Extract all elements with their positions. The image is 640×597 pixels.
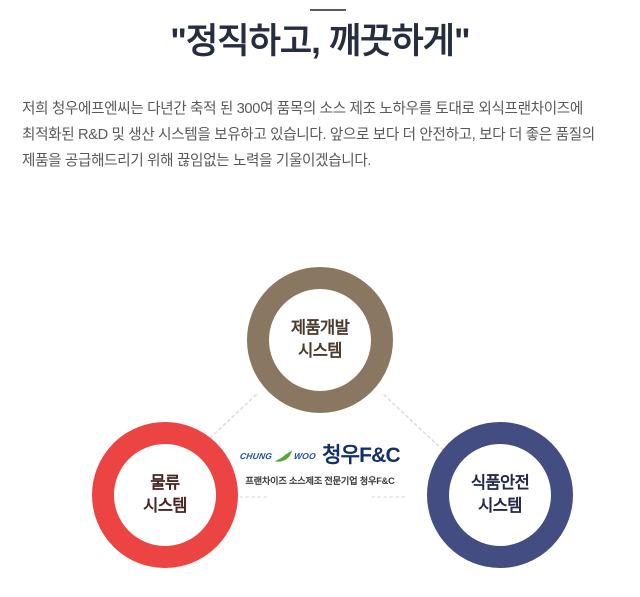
- circle-product-development-label: 제품개발 시스템: [291, 317, 349, 363]
- intro-line-1: 저희 청우에프엔씨는 다년간 축적 된 300여 품목의 소스 제조 노하우를 …: [22, 96, 622, 122]
- intro-paragraph: 저희 청우에프엔씨는 다년간 축적 된 300여 품목의 소스 제조 노하우를 …: [22, 96, 622, 174]
- logo-wordmark: CHUNG WOO: [240, 449, 316, 463]
- circle-logistics-label: 물류 시스템: [143, 472, 187, 518]
- logo-korean-name: 청우F&C: [322, 445, 400, 467]
- logo-tagline: 프랜차이즈 소스제조 전문기업 청우F&C: [232, 473, 408, 487]
- circle-product-development[interactable]: 제품개발 시스템: [247, 267, 393, 413]
- circle-logistics[interactable]: 물류 시스템: [92, 422, 238, 568]
- systems-diagram: 제품개발 시스템 물류 시스템 식품안전 시스템 CHUNG WOO: [0, 245, 640, 597]
- company-philosophy-page: "정직하고, 깨끗하게" 저희 청우에프엔씨는 다년간 축적 된 300여 품목…: [0, 0, 640, 597]
- top-divider-rule: [310, 9, 346, 11]
- logo-wordmark-chung: CHUNG: [239, 451, 273, 461]
- page-headline: "정직하고, 깨끗하게": [0, 20, 640, 64]
- leaf-icon: [273, 449, 293, 463]
- circle-food-safety[interactable]: 식품안전 시스템: [427, 422, 573, 568]
- company-logo: CHUNG WOO 청우F&C 프랜차이즈 소스제조 전문기업 청우F&C: [232, 443, 408, 487]
- intro-line-2: 최적화된 R&D 및 생산 시스템을 보유하고 있습니다. 앞으로 보다 더 안…: [22, 122, 622, 148]
- logo-mark: CHUNG WOO 청우F&C: [232, 443, 408, 469]
- circle-food-safety-label: 식품안전 시스템: [471, 472, 529, 518]
- intro-line-3: 제품을 공급해드리기 위해 끊임없는 노력을 기울이겠습니다.: [22, 148, 622, 174]
- logo-wordmark-woo: WOO: [294, 451, 317, 461]
